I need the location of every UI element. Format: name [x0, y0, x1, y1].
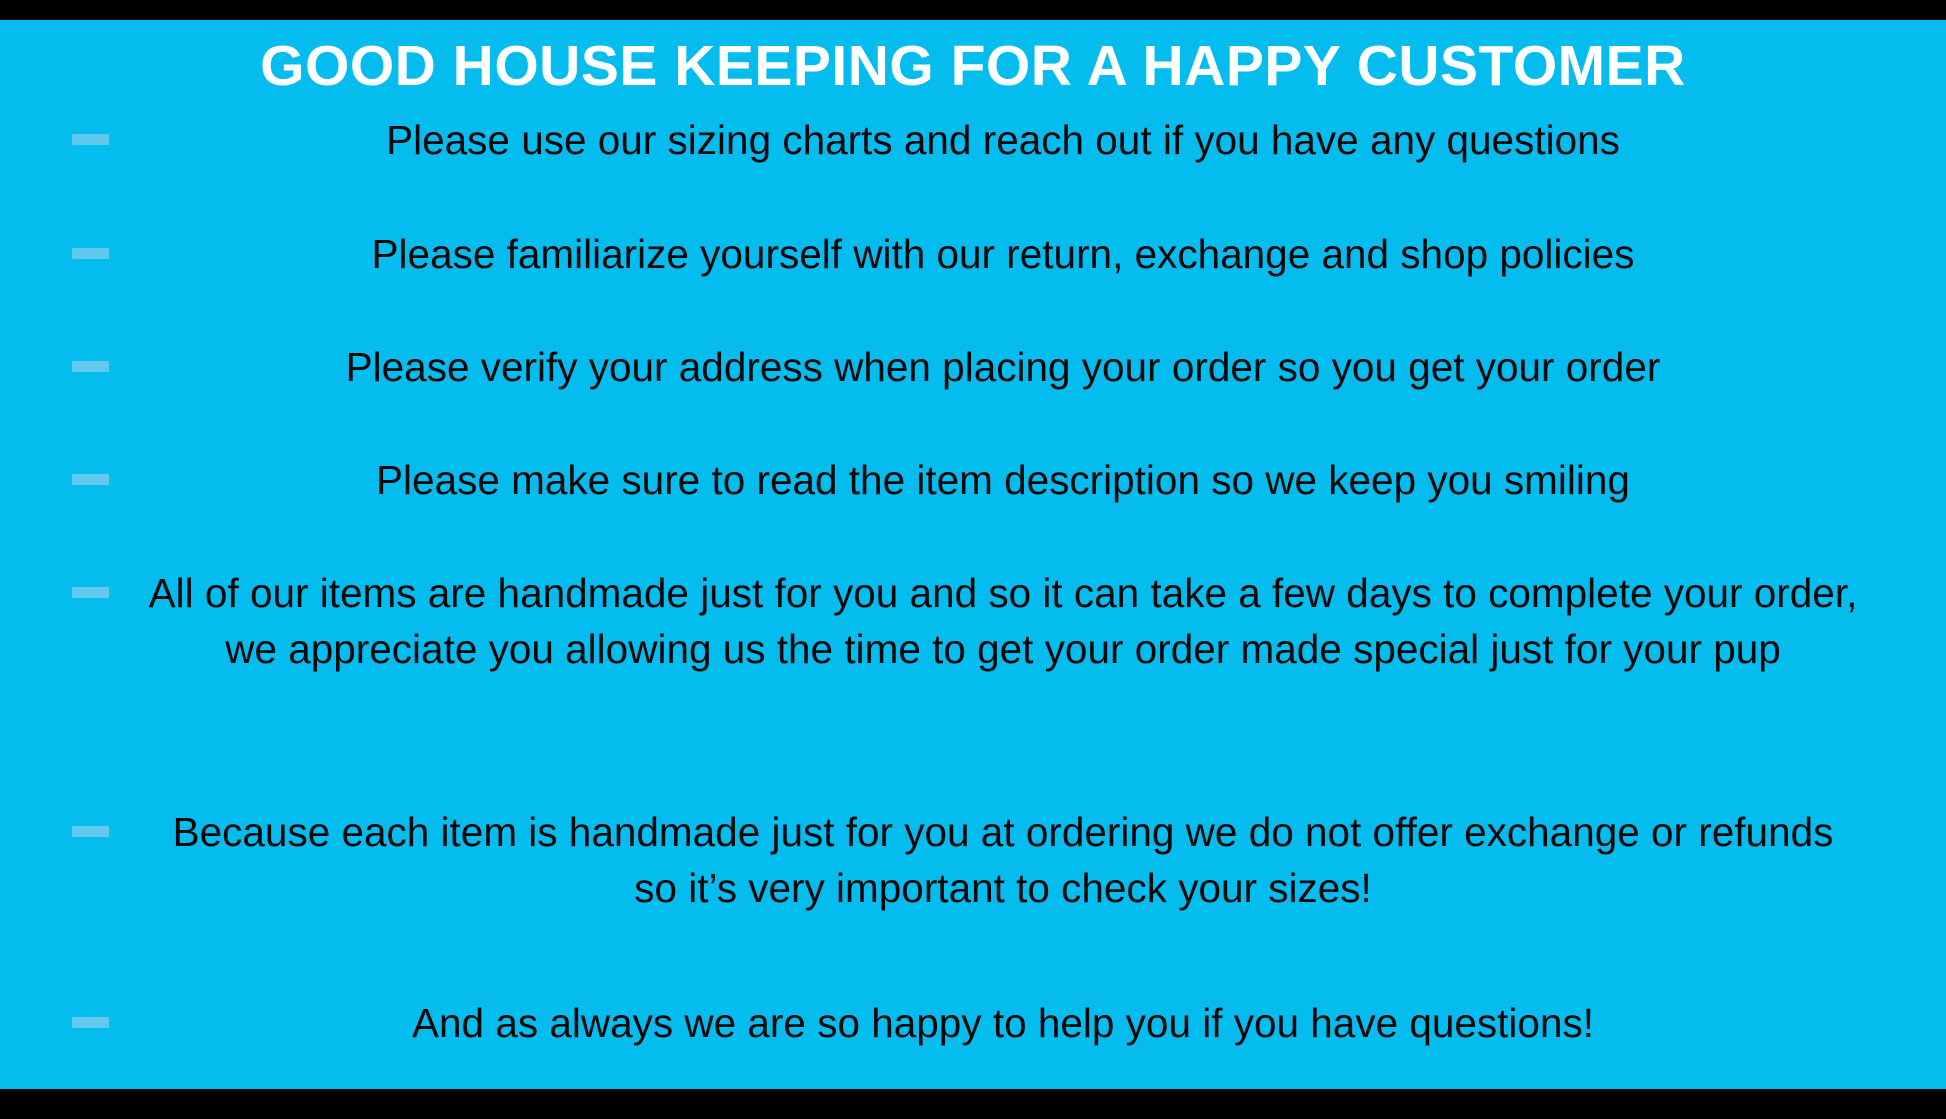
- list-item: And as always we are so happy to help yo…: [0, 995, 1946, 1051]
- list-item-text: And as always we are so happy to help yo…: [130, 995, 1876, 1051]
- list-item: Because each item is handmade just for y…: [0, 804, 1946, 916]
- dash-marker-icon: [72, 361, 109, 372]
- list-item-text: Please use our sizing charts and reach o…: [130, 112, 1876, 168]
- list-item-text: Please familiarize yourself with our ret…: [130, 226, 1876, 282]
- slide-canvas: GOOD HOUSE KEEPING FOR A HAPPY CUSTOMER …: [0, 20, 1946, 1089]
- dash-marker-icon: [72, 826, 109, 837]
- list-item: All of our items are handmade just for y…: [0, 565, 1946, 677]
- letterbox-top: [0, 0, 1946, 20]
- list-item: Please make sure to read the item descri…: [0, 452, 1946, 508]
- bullet-list: Please use our sizing charts and reach o…: [0, 112, 1946, 1051]
- letterbox-bottom: [0, 1089, 1946, 1119]
- list-item: Please verify your address when placing …: [0, 339, 1946, 395]
- list-item: Please familiarize yourself with our ret…: [0, 226, 1946, 282]
- dash-marker-icon: [72, 134, 109, 145]
- list-item-text: All of our items are handmade just for y…: [130, 565, 1876, 677]
- dash-marker-icon: [72, 474, 109, 485]
- list-item-text: Because each item is handmade just for y…: [130, 804, 1876, 916]
- dash-marker-icon: [72, 587, 109, 598]
- dash-marker-icon: [72, 248, 109, 259]
- list-item-text: Please make sure to read the item descri…: [130, 452, 1876, 508]
- slide-container: GOOD HOUSE KEEPING FOR A HAPPY CUSTOMER …: [0, 0, 1946, 1119]
- page-title: GOOD HOUSE KEEPING FOR A HAPPY CUSTOMER: [0, 37, 1946, 97]
- list-item-text: Please verify your address when placing …: [130, 339, 1876, 395]
- list-item: Please use our sizing charts and reach o…: [0, 112, 1946, 168]
- dash-marker-icon: [72, 1017, 109, 1028]
